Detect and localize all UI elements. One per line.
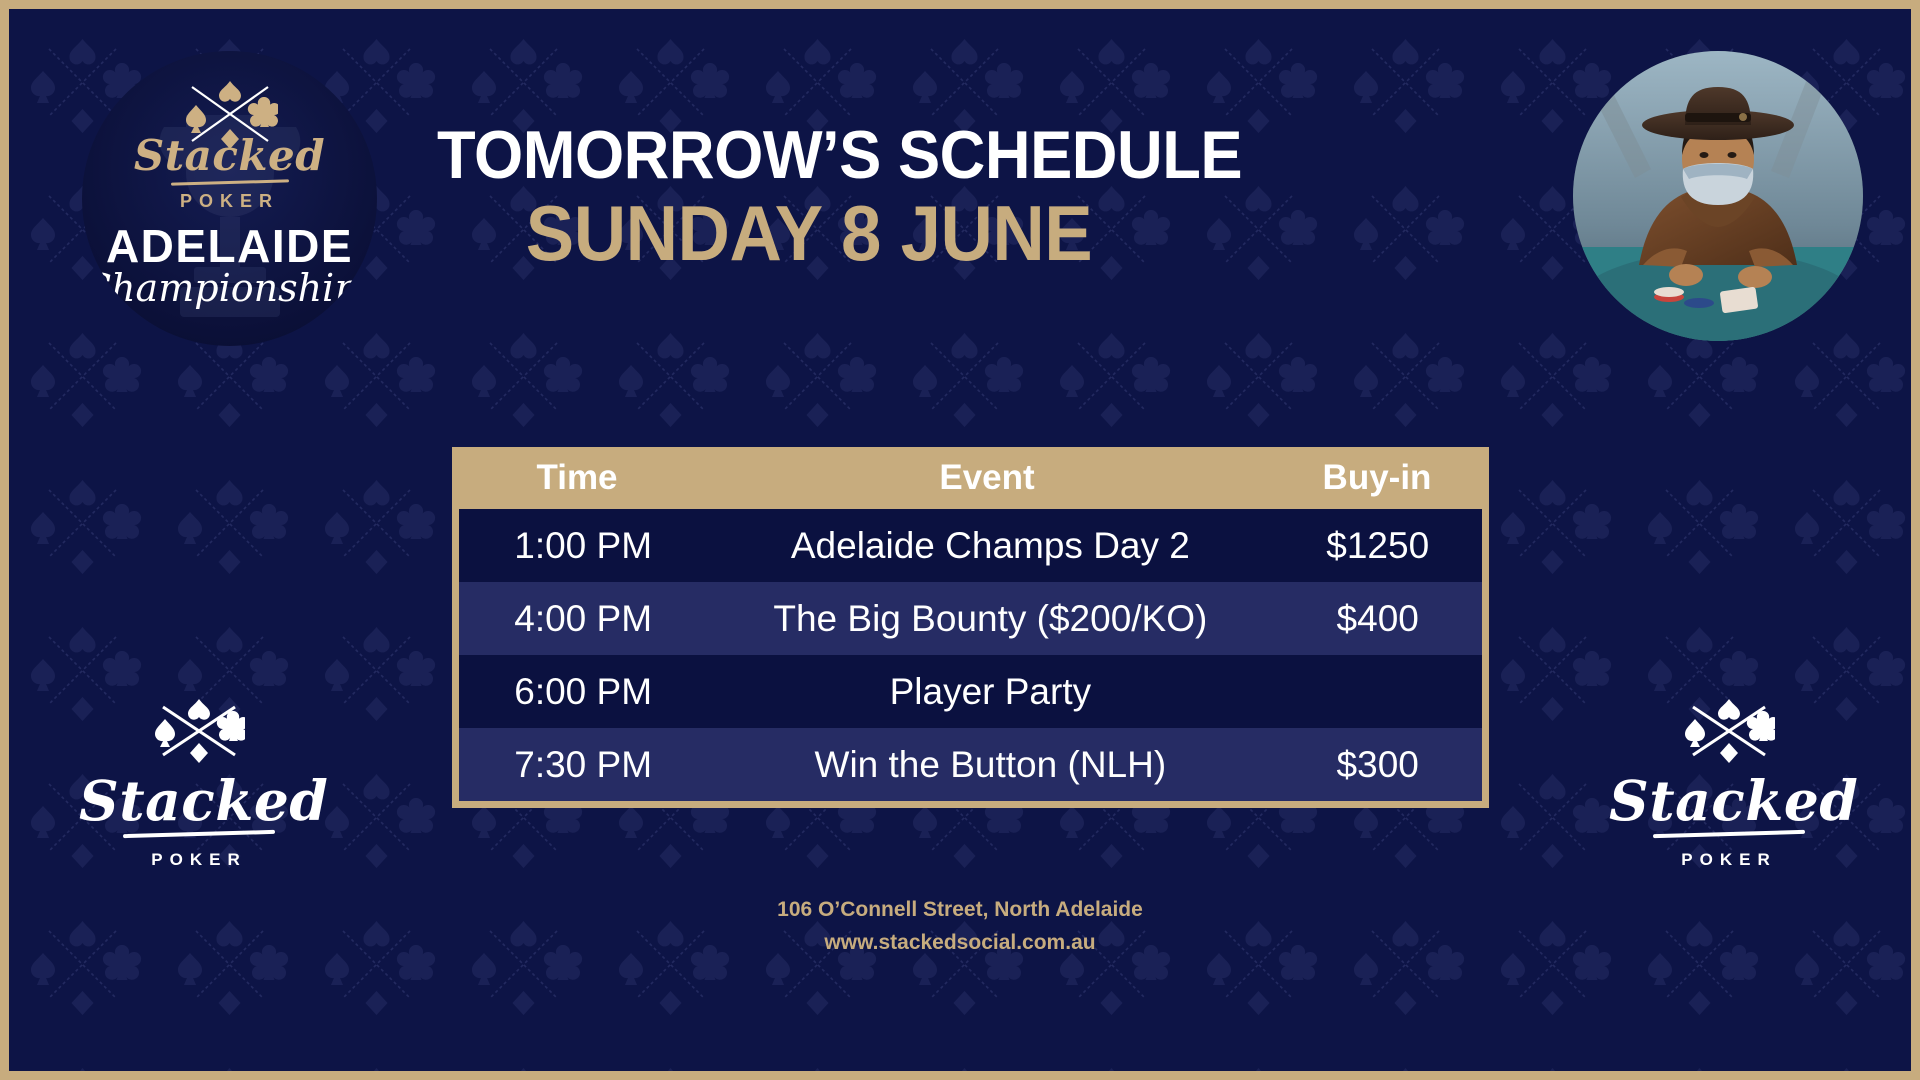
table-row: 4:00 PM The Big Bounty ($200/KO) $400: [459, 582, 1482, 655]
headline-date: SUNDAY 8 JUNE: [437, 194, 1181, 274]
headline-block: TOMORROW’S SCHEDULE SUNDAY 8 JUNE: [409, 121, 1209, 274]
badge-script-name: Stacked: [82, 135, 377, 177]
cell-buyin: $1250: [1273, 525, 1482, 567]
table-row: 1:00 PM Adelaide Champs Day 2 $1250: [459, 509, 1482, 582]
cell-buyin: $400: [1273, 598, 1482, 640]
footer-contact-block: 106 O’Connell Street, North Adelaide www…: [9, 894, 1911, 959]
schedule-table: Time Event Buy-in 1:00 PM Adelaide Champ…: [452, 447, 1489, 808]
logo-sub-word: POKER: [79, 850, 319, 870]
cell-event: The Big Bounty ($200/KO): [707, 598, 1273, 640]
website-url: www.stackedsocial.com.au: [9, 927, 1911, 960]
cell-event: Adelaide Champs Day 2: [707, 525, 1273, 567]
cell-time: 6:00 PM: [459, 671, 707, 713]
table-row: 6:00 PM Player Party: [459, 655, 1482, 728]
cell-buyin: $300: [1273, 744, 1482, 786]
cell-event: Win the Button (NLH): [707, 744, 1273, 786]
logo-brand-name: Stacked: [79, 773, 319, 828]
badge-city-name: ADELAIDE: [82, 223, 377, 269]
stacked-poker-logo-left: Stacked POKER: [79, 697, 319, 870]
logo-sub-word: POKER: [1609, 850, 1849, 870]
badge-poker-word: POKER: [82, 191, 377, 212]
column-header-buyin: Buy-in: [1272, 458, 1482, 498]
venue-address: 106 O’Connell Street, North Adelaide: [9, 894, 1911, 927]
table-row: 7:30 PM Win the Button (NLH) $300: [459, 728, 1482, 801]
poster-canvas: Stacked POKER ADELAIDE Championships TOM…: [0, 0, 1920, 1080]
column-header-time: Time: [452, 458, 702, 498]
headline-primary: TOMORROW’S SCHEDULE: [437, 121, 1181, 190]
adelaide-championships-badge: Stacked POKER ADELAIDE Championships: [82, 51, 377, 346]
column-header-event: Event: [702, 458, 1272, 498]
logo-brand-name: Stacked: [1609, 773, 1849, 828]
crossed-suits-icon: [153, 697, 245, 763]
table-header-row: Time Event Buy-in: [452, 447, 1489, 509]
crossed-suits-icon: [1683, 697, 1775, 763]
badge-championships-word: Championships: [82, 269, 377, 307]
cell-time: 4:00 PM: [459, 598, 707, 640]
cell-event: Player Party: [707, 671, 1273, 713]
stacked-poker-logo-right: Stacked POKER: [1609, 697, 1849, 870]
cell-time: 1:00 PM: [459, 525, 707, 567]
cell-time: 7:30 PM: [459, 744, 707, 786]
cowboy-poker-player-portrait: [1573, 51, 1863, 341]
